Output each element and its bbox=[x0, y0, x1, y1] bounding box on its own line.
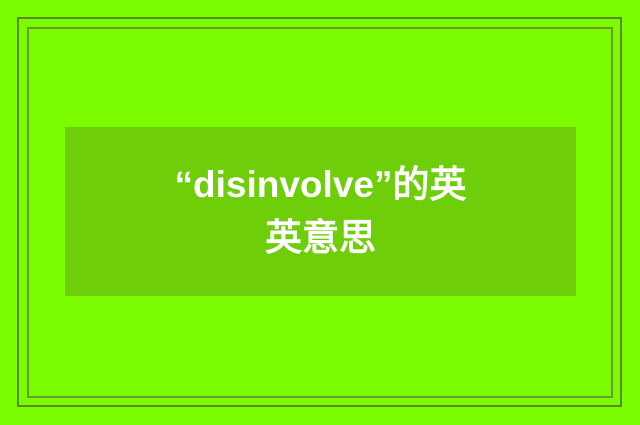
title-panel: “disinvolve”的英英意思 bbox=[65, 127, 576, 296]
poster-canvas: “disinvolve”的英英意思 bbox=[0, 0, 640, 425]
page-title: “disinvolve”的英英意思 bbox=[171, 159, 471, 264]
